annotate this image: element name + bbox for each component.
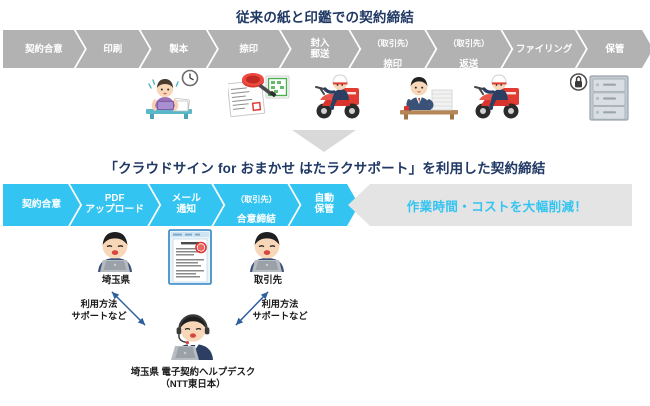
process-step-torihikisaki-natsuin: （取引先） 捺印 [350, 30, 435, 68]
benefit-callout-text: 作業時間・コストを大幅削減！ [393, 196, 588, 215]
process-step-label: 製本 [169, 44, 188, 55]
process-step-fuunyu-yuso: 封入 郵送 [281, 30, 360, 68]
process-step-torihikisaki-goi-teiketsu: （取引先） 合意締結 [213, 184, 299, 226]
locked-filing-cabinet-icon [570, 70, 632, 122]
support-label-left: 利用方法 サポートなど [62, 299, 136, 322]
party-right-label: 取引先 [237, 274, 299, 286]
party-left-label: 埼玉県 [85, 274, 147, 286]
helpdesk-operator-with-headset-icon [168, 312, 218, 360]
legacy-process-flow: 契約合意 印刷 製本 捺印 封入 郵送 （取引先） 捺印 （取引先） 返送 ファ [3, 30, 644, 68]
process-step-label: PDF アップロード [85, 194, 144, 216]
process-step-hokan: 保管 [577, 30, 650, 68]
page-title-top: 従来の紙と印鑑での契約締結 [0, 6, 650, 26]
cloudsign-process-flow: 契約合意 PDF アップロード メール 通知 （取引先） 合意締結 自動 保管 [3, 184, 349, 226]
man-stamping-documents-icon [398, 68, 462, 120]
process-step-label: 返送 [459, 58, 478, 69]
mail-courier-scooter-return-icon [470, 70, 524, 120]
process-step-seihon: 製本 [141, 30, 217, 68]
diagram-canvas: 従来の紙と印鑑での契約締結 契約合意 印刷 製本 捺印 封入 郵送 （取引先） … [0, 0, 650, 406]
process-step-keiyaku-goi: 契約合意 [3, 30, 85, 68]
page-title-middle: 「クラウドサイン for おまかせ はたラクサポート」を利用した契約締結 [0, 157, 650, 177]
process-step-mail-notification: メール 通知 [149, 184, 223, 226]
benefit-callout-banner: 作業時間・コストを大幅削減！ [348, 184, 632, 226]
process-step-label: 契約合意 [22, 200, 61, 211]
process-step-label: 印刷 [103, 44, 122, 55]
electronic-contract-document-icon [168, 229, 212, 285]
process-step-label: 契約合意 [25, 44, 63, 55]
flow-transition-down-arrow-icon [292, 130, 356, 152]
process-step-keiyaku-goi: 契約合意 [3, 184, 80, 226]
process-step-sublabel: （取引先） [448, 39, 489, 48]
process-step-label: 自動 保管 [314, 194, 334, 216]
person-with-laptop-right-icon [244, 230, 290, 272]
process-step-filing: ファイリング [502, 30, 585, 68]
support-label-right: 利用方法 サポートなど [243, 299, 317, 322]
process-step-label: 捺印 [239, 44, 258, 55]
process-step-label: ファイリング [516, 44, 572, 55]
process-step-sublabel: （取引先） [236, 195, 277, 204]
woman-at-desk-with-clock-icon [140, 68, 202, 120]
seal-stamp-and-document-icon [228, 70, 290, 118]
process-step-label: 保管 [606, 44, 625, 55]
process-step-natsuin: 捺印 [208, 30, 290, 68]
process-step-label: 封入 郵送 [311, 38, 330, 59]
helpdesk-label: 埼玉県 電子契約ヘルプデスク （NTT東日本） [118, 366, 268, 390]
process-step-label: メール 通知 [172, 194, 201, 216]
process-step-label: 合意締結 [237, 214, 276, 225]
process-step-pdf-upload: PDF アップロード [70, 184, 159, 226]
person-with-laptop-left-icon [92, 230, 138, 272]
process-step-insatsu: 印刷 [76, 30, 150, 68]
mail-courier-scooter-icon [312, 70, 364, 120]
process-step-sublabel: （取引先） [372, 39, 413, 48]
process-step-torihikisaki-henso: （取引先） 返送 [426, 30, 511, 68]
